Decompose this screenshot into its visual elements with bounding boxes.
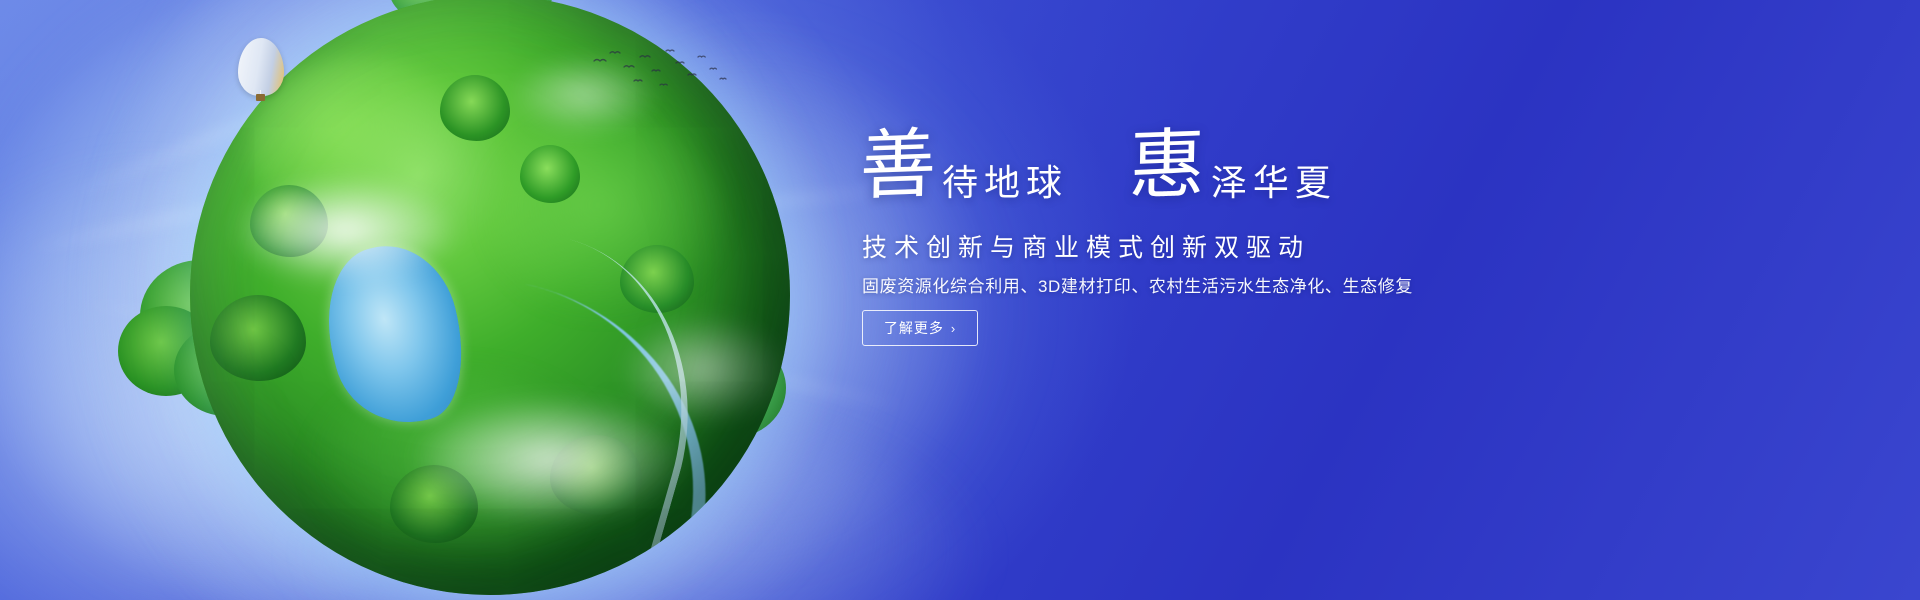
hero-description: 固废资源化综合利用、3D建材打印、农村生活污水生态净化、生态修复 [862,272,1413,297]
headline-big-char-2: 惠 [1128,127,1205,206]
headline-rest-1: 待地球 [942,165,1068,201]
hero-banner: 善待地球 惠泽华夏 技术创新与商业模式创新双驱动 固废资源化综合利用、3D建材打… [0,0,1920,600]
hero-subtitle: 技术创新与商业模式创新双驱动 [862,228,1310,264]
hero-content: 善待地球 惠泽华夏 技术创新与商业模式创新双驱动 固废资源化综合利用、3D建材打… [860,0,1560,600]
learn-more-button[interactable]: 了解更多 › [862,310,978,346]
learn-more-label: 了解更多 [884,318,944,338]
headline-rest-2: 泽华夏 [1211,165,1337,201]
headline-phrase-1: 善待地球 [860,128,1068,204]
headline-phrase-2: 惠泽华夏 [1129,128,1337,204]
flock-of-birds-icon [590,45,730,91]
chevron-right-icon: › [951,322,956,335]
headline-big-char-1: 善 [859,127,936,206]
hot-air-balloon-icon [238,38,284,96]
page-title: 善待地球 惠泽华夏 [860,128,1560,220]
